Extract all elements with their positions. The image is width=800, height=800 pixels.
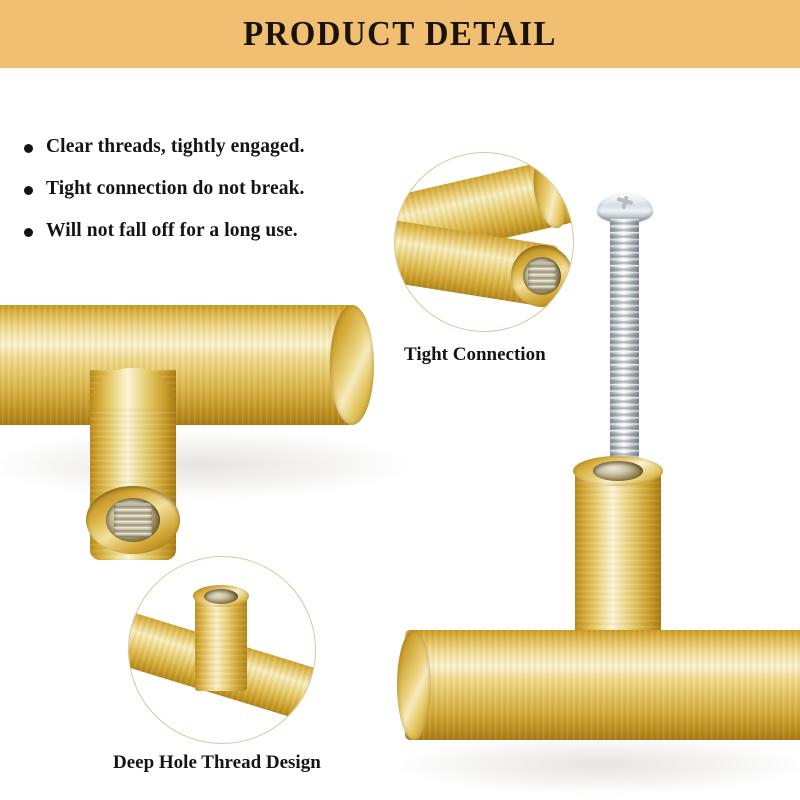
list-item: Will not fall off for a long use. — [24, 220, 404, 242]
callout-internal-thread — [528, 262, 556, 290]
callout-deep-hole-thread — [128, 556, 316, 744]
bullet-dot-icon — [24, 186, 33, 195]
callout-deep-hole-post — [195, 595, 247, 691]
list-item: Tight connection do not break. — [24, 178, 404, 200]
handle-shadow — [0, 430, 410, 500]
handle-horizontal-bar — [405, 630, 800, 740]
bullet-dot-icon — [24, 228, 33, 237]
handle-shadow — [395, 735, 800, 795]
handle-bar-endcap — [330, 305, 374, 425]
product-detail-page: PRODUCT DETAIL Clear threads, tightly en… — [0, 0, 800, 800]
list-item: Clear threads, tightly engaged. — [24, 136, 404, 158]
callout-caption-deep-hole-thread: Deep Hole Thread Design — [113, 752, 321, 774]
handle-threaded-hole — [593, 461, 643, 481]
callout-caption-tight-connection: Tight Connection — [404, 344, 546, 366]
screw-threaded-shank — [610, 219, 639, 474]
bullet-text: Clear threads, tightly engaged. — [46, 136, 305, 158]
bullet-text: Tight connection do not break. — [46, 178, 305, 200]
bullet-dot-icon — [24, 144, 33, 153]
handle-horizontal-bar — [0, 305, 352, 425]
bullet-text: Will not fall off for a long use. — [46, 220, 298, 242]
page-title: PRODUCT DETAIL — [24, 0, 776, 68]
handle-internal-thread — [114, 503, 152, 537]
callout-tight-connection — [394, 152, 574, 332]
handle-bar-endcap — [397, 630, 431, 740]
feature-bullet-list: Clear threads, tightly engaged. Tight co… — [24, 136, 404, 262]
callout-deep-threaded-hole — [204, 589, 238, 604]
